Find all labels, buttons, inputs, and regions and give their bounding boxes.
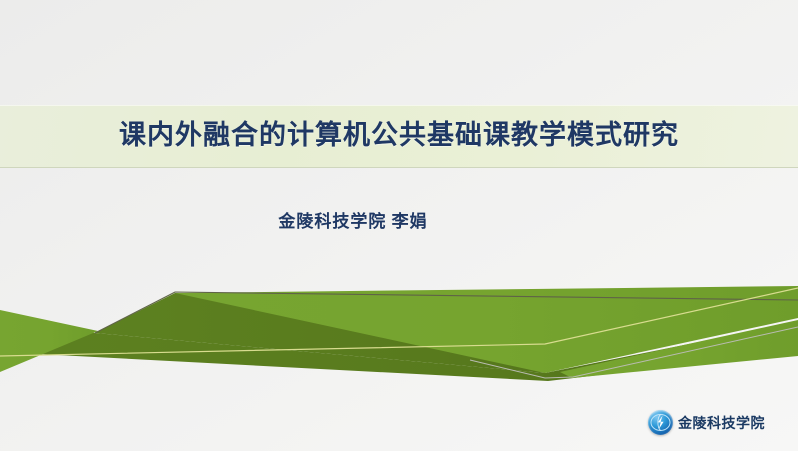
- ribbon-shape-bright-right-tail: [560, 320, 798, 378]
- page-title: 课内外融合的计算机公共基础课教学模式研究: [0, 112, 798, 158]
- ribbon-edge-vertex-line: [470, 327, 798, 378]
- presenter-subtitle: 金陵科技学院 李娟: [0, 207, 798, 232]
- footer-institution-label: 金陵科技学院: [678, 413, 765, 433]
- ribbon-shape-dark-lower: [0, 322, 798, 381]
- ribbon-shape-bright-left: [0, 310, 98, 372]
- presentation-title-slide: 课内外融合的计算机公共基础课教学模式研究 金陵科技学院 李娟 金陵科技学院: [0, 0, 798, 451]
- ribbon-shape-bright-main: [175, 286, 798, 373]
- jit-globe-logo-icon: [648, 410, 673, 435]
- footer-logo: 金陵科技学院: [648, 410, 765, 435]
- ribbon-outline-peak-line: [95, 292, 798, 333]
- ribbon-highlight-line: [0, 288, 798, 356]
- ribbon-shape-dark-left-wedge: [95, 293, 650, 373]
